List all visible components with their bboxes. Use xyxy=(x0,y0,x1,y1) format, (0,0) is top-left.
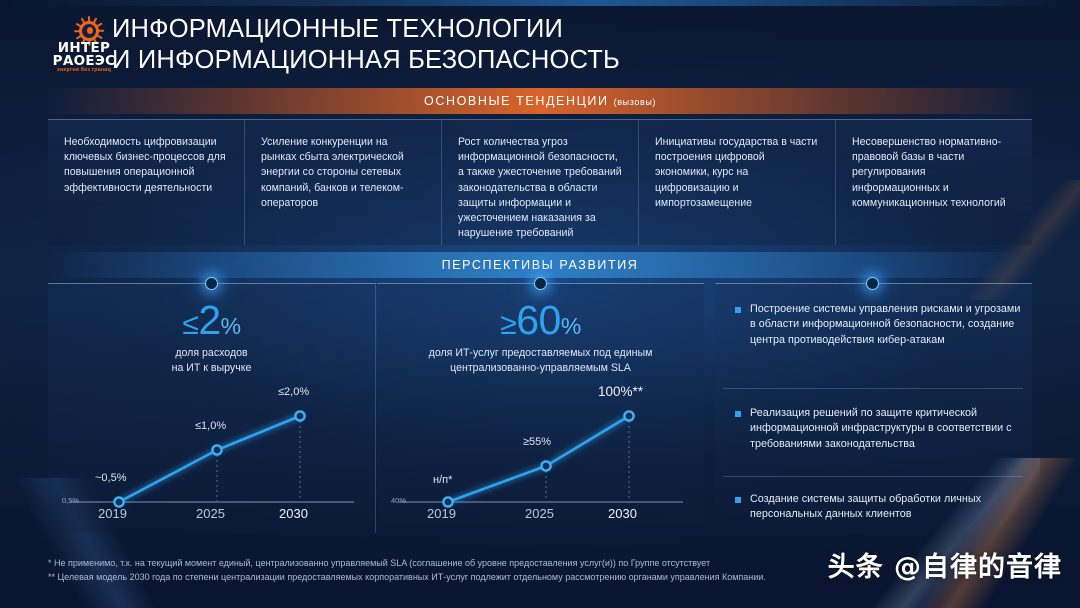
prospects-panels: ≤2% доля расходов на ИТ к выручке xyxy=(48,283,1032,541)
prospects-banner: ПЕРСПЕКТИВЫ РАЗВИТИЯ xyxy=(48,252,1032,278)
slide-root: ИНТЕР РАОЕЭС энергия без границ ИНФОРМАЦ… xyxy=(0,0,1080,608)
initiative-text-3: Создание системы защиты обработки личных… xyxy=(750,492,1023,523)
initiative-text-1: Построение системы управления рисками и … xyxy=(750,302,1023,348)
chart-2-point-label-2030: 100%** xyxy=(598,384,643,399)
chart-2-headline-value: 60 xyxy=(516,297,561,343)
chart-2-headline: ≥60% xyxy=(377,298,704,348)
bullet-square-icon xyxy=(735,307,741,313)
chart-2-headline-prefix: ≥ xyxy=(500,308,516,341)
initiatives-list: Построение системы управления рисками и … xyxy=(715,284,1032,533)
sun-center xyxy=(87,27,93,34)
list-item: Построение системы управления рисками и … xyxy=(735,302,1023,348)
chart-1-point-label-2019: ~0,5% xyxy=(95,472,127,484)
chart-1-svg xyxy=(62,380,362,526)
chart-2-xtick-2025: 2025 xyxy=(525,506,554,521)
panel-node-marker-icon xyxy=(534,277,547,290)
trend-column-5: Несовершенство нормативно-правовой базы … xyxy=(836,120,1032,245)
page-title-line-2: И ИНФОРМАЦИОННАЯ БЕЗОПАСНОСТЬ xyxy=(112,45,872,76)
trend-column-4: Инициативы государства в части построени… xyxy=(639,120,836,245)
chart-1-xtick-2025: 2025 xyxy=(196,506,225,521)
chart-2-y-label: 40% xyxy=(391,496,406,505)
watermark: 头条 @自律的音律 xyxy=(828,552,1062,584)
chart-2-caption-line-2: централизованно-управляемым SLA xyxy=(450,362,631,374)
initiative-text-2: Реализация решений по защите критической… xyxy=(750,406,1023,452)
panel-node-marker-icon xyxy=(205,277,218,290)
chart-2-headline-unit: % xyxy=(561,313,581,339)
chart-1-point-label-2025: ≤1,0% xyxy=(195,420,226,432)
trends-row: Необходимость цифровизации ключевых бизн… xyxy=(48,119,1032,245)
chart-1-xtick-2019: 2019 xyxy=(98,506,127,521)
trend-column-3: Рост количества угроз информационной без… xyxy=(442,120,639,245)
list-item: Реализация решений по защите критической… xyxy=(735,406,1023,452)
bullet-square-icon xyxy=(735,497,741,503)
chart-2-point-label-2025: ≥55% xyxy=(523,436,551,448)
chart-2-point-label-2019: н/п* xyxy=(433,474,452,486)
prospects-banner-label: ПЕРСПЕКТИВЫ РАЗВИТИЯ xyxy=(442,258,639,272)
trends-banner: ОСНОВНЫЕ ТЕНДЕНЦИИ (вызовы) xyxy=(48,88,1032,114)
page-title-line-1: ИНФОРМАЦИОННЫЕ ТЕХНОЛОГИИ xyxy=(112,15,563,43)
chart-2-caption-line-1: доля ИТ-услуг предоставляемых под единым xyxy=(429,347,653,359)
chart-2-plot: 40% н/п* ≥55% 100%** 2019 2025 2030 xyxy=(391,380,691,526)
page-title: ИНФОРМАЦИОННЫЕ ТЕХНОЛОГИИ И ИНФОРМАЦИОНН… xyxy=(112,14,872,76)
chart-1-y-label: 0,5% xyxy=(62,496,79,505)
chart-1-headline-value: 2 xyxy=(198,297,220,343)
chart-1-caption: доля расходов на ИТ к выручке xyxy=(48,346,375,375)
chart-1-xtick-2030: 2030 xyxy=(279,506,308,521)
list-item: Создание системы защиты обработки личных… xyxy=(735,492,1023,523)
divider xyxy=(723,388,1023,389)
chart-2-xtick-2019: 2019 xyxy=(427,506,456,521)
bullet-square-icon xyxy=(735,411,741,417)
chart-2-svg xyxy=(391,380,691,526)
chart-panel-it-costs: ≤2% доля расходов на ИТ к выручке xyxy=(48,283,376,533)
trend-column-2: Усиление конкуренции на рынках сбыта эле… xyxy=(245,120,442,245)
trend-column-1: Необходимость цифровизации ключевых бизн… xyxy=(48,120,245,245)
chart-1-point-label-2030: ≤2,0% xyxy=(278,386,309,398)
divider xyxy=(723,476,1023,477)
trends-banner-label: ОСНОВНЫЕ ТЕНДЕНЦИИ xyxy=(424,94,609,108)
chart-2-caption: доля ИТ-услуг предоставляемых под единым… xyxy=(377,346,704,375)
chart-1-caption-line-1: доля расходов xyxy=(175,347,247,359)
chart-1-headline-unit: % xyxy=(221,313,241,339)
chart-panel-sla: ≥60% доля ИТ-услуг предоставляемых под е… xyxy=(377,283,704,533)
chart-1-caption-line-2: на ИТ к выручке xyxy=(172,362,252,374)
chart-1-plot: 0,5% ~0,5% ≤1,0% ≤2,0% 2019 2025 2030 xyxy=(62,380,362,526)
trends-banner-sub: (вызовы) xyxy=(614,97,656,107)
chart-1-headline: ≤2% xyxy=(48,298,375,348)
chart-1-headline-prefix: ≤ xyxy=(182,308,198,341)
chart-2-xtick-2030: 2030 xyxy=(608,506,637,521)
initiatives-panel: Построение системы управления рисками и … xyxy=(715,283,1032,533)
slide-header: ИНТЕР РАОЕЭС энергия без границ ИНФОРМАЦ… xyxy=(0,6,1080,84)
